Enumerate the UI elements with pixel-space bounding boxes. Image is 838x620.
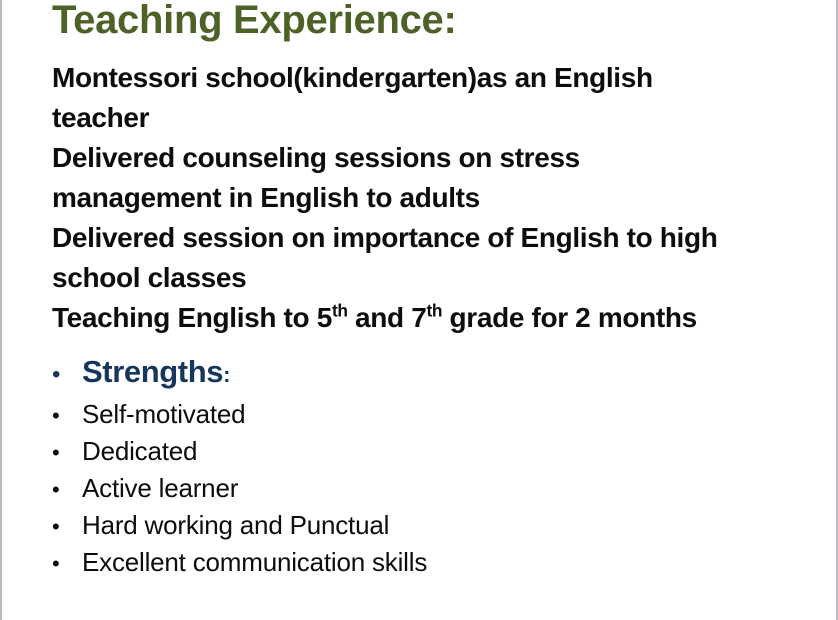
list-item: • Hard working and Punctual xyxy=(52,509,824,546)
list-item-label: Self-motivated xyxy=(82,398,245,430)
list-item-label: Hard working and Punctual xyxy=(82,509,389,541)
body-line-3: Delivered counseling sessions on stress xyxy=(52,138,824,178)
grade-text-part-2: and 7 xyxy=(348,302,427,333)
body-line-2: teacher xyxy=(52,98,824,138)
grade-superscript-2: th xyxy=(426,301,442,321)
slide-title-block: Teaching Experience: xyxy=(52,0,812,43)
list-item: • Excellent communication skills xyxy=(52,546,824,583)
list-item: • Active learner xyxy=(52,472,824,509)
list-item-label: Excellent communication skills xyxy=(82,546,427,578)
strengths-heading-colon: : xyxy=(223,362,230,387)
body-line-5: Delivered session on importance of Engli… xyxy=(52,218,824,258)
bullet-icon: • xyxy=(52,405,82,427)
body-line-4: management in English to adults xyxy=(52,178,824,218)
strengths-heading-label: Strengths xyxy=(82,354,223,389)
slide-canvas: Teaching Experience: Montessori school(k… xyxy=(0,0,838,620)
strengths-list: • Strengths: • Self-motivated • Dedicate… xyxy=(52,356,824,583)
strengths-heading: Strengths: xyxy=(82,356,230,391)
bullet-icon: • xyxy=(52,479,82,501)
teaching-experience-body: Montessori school(kindergarten)as an Eng… xyxy=(52,58,824,338)
bullet-icon: • xyxy=(52,553,82,575)
body-line-grade: Teaching English to 5th and 7th grade fo… xyxy=(52,298,824,338)
body-line-6: school classes xyxy=(52,258,824,298)
list-item: • Dedicated xyxy=(52,435,824,472)
list-item-label: Active learner xyxy=(82,472,238,504)
page-title: Teaching Experience: xyxy=(52,0,812,43)
list-item: • Self-motivated xyxy=(52,398,824,435)
list-item-label: Dedicated xyxy=(82,435,197,467)
bullet-icon: • xyxy=(52,442,82,464)
grade-superscript-1: th xyxy=(332,301,348,321)
bullet-icon: • xyxy=(52,516,82,538)
grade-text-part-3: grade for 2 months xyxy=(442,302,697,333)
list-item-strengths-heading: • Strengths: xyxy=(52,356,824,398)
bullet-icon: • xyxy=(52,363,82,387)
grade-text-part-1: Teaching English to 5 xyxy=(52,302,332,333)
body-line-1: Montessori school(kindergarten)as an Eng… xyxy=(52,58,824,98)
